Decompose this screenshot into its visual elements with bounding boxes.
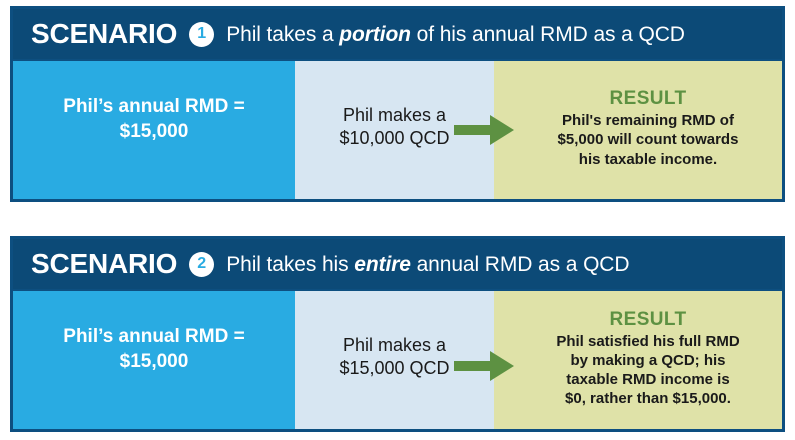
scenario-1-result-panel: RESULT Phil's remaining RMD of $5,000 wi… [494, 61, 782, 199]
scenario-1-description: Phil takes a portion of his annual RMD a… [226, 24, 685, 45]
scenario-2-desc-before: Phil takes his [226, 253, 354, 276]
scenario-2-desc-emphasis: entire [354, 253, 411, 276]
scenario-2-rmd-panel: Phil’s annual RMD = $15,000 [13, 291, 295, 429]
scenario-1-qcd-panel: Phil makes a $10,000 QCD [295, 61, 494, 199]
scenario-card-2: SCENARIO 2 Phil takes his entire annual … [10, 236, 785, 432]
scenario-1-result-text: Phil's remaining RMD of $5,000 will coun… [558, 111, 739, 169]
scenario-2-rmd-line1: Phil’s annual RMD = [63, 324, 244, 349]
scenario-1-desc-before: Phil takes a [226, 23, 339, 46]
scenario-1-label: SCENARIO [31, 20, 177, 48]
scenario-1-body: Phil’s annual RMD = $15,000 Phil makes a… [13, 59, 782, 199]
scenario-1-desc-after: of his annual RMD as a QCD [411, 23, 685, 46]
scenario-2-result-text: Phil satisfied his full RMD by making a … [556, 332, 739, 409]
scenario-1-rmd-panel: Phil’s annual RMD = $15,000 [13, 61, 295, 199]
scenario-2-description: Phil takes his entire annual RMD as a QC… [226, 254, 629, 275]
scenario-1-result-line1: Phil's remaining RMD of [558, 111, 739, 130]
scenario-1-result-title: RESULT [610, 89, 687, 108]
scenario-1-qcd-line2: $10,000 QCD [339, 127, 449, 150]
scenario-2-result-title: RESULT [610, 310, 687, 329]
scenario-1-rmd-text: Phil’s annual RMD = $15,000 [63, 94, 244, 145]
scenario-2-result-line4: $0, rather than $15,000. [556, 389, 739, 408]
scenario-2-qcd-text: Phil makes a $15,000 QCD [339, 334, 449, 380]
scenario-1-rmd-line2: $15,000 [63, 119, 244, 144]
scenario-2-rmd-line2: $15,000 [63, 349, 244, 374]
scenario-1-number-badge: 1 [189, 22, 214, 47]
scenario-2-result-line2: by making a QCD; his [556, 351, 739, 370]
scenario-2-number-badge: 2 [189, 252, 214, 277]
scenario-1-result-line2: $5,000 will count towards [558, 130, 739, 149]
infographic-page: SCENARIO 1 Phil takes a portion of his a… [0, 0, 795, 440]
scenario-2-qcd-line1: Phil makes a [339, 334, 449, 357]
scenario-2-header: SCENARIO 2 Phil takes his entire annual … [13, 239, 782, 289]
scenario-card-1: SCENARIO 1 Phil takes a portion of his a… [10, 6, 785, 202]
scenario-1-header: SCENARIO 1 Phil takes a portion of his a… [13, 9, 782, 59]
scenario-2-qcd-line2: $15,000 QCD [339, 357, 449, 380]
scenario-1-rmd-line1: Phil’s annual RMD = [63, 94, 244, 119]
scenario-2-body: Phil’s annual RMD = $15,000 Phil makes a… [13, 289, 782, 429]
scenario-2-label: SCENARIO [31, 250, 177, 278]
scenario-2-rmd-text: Phil’s annual RMD = $15,000 [63, 324, 244, 375]
scenario-1-result-line3: his taxable income. [558, 150, 739, 169]
scenario-1-qcd-text: Phil makes a $10,000 QCD [339, 104, 449, 150]
scenario-2-result-panel: RESULT Phil satisfied his full RMD by ma… [494, 291, 782, 429]
scenario-2-result-line3: taxable RMD income is [556, 370, 739, 389]
scenario-2-desc-after: annual RMD as a QCD [411, 253, 630, 276]
scenario-2-qcd-panel: Phil makes a $15,000 QCD [295, 291, 494, 429]
scenario-1-qcd-line1: Phil makes a [339, 104, 449, 127]
scenario-2-result-line1: Phil satisfied his full RMD [556, 332, 739, 351]
scenario-1-desc-emphasis: portion [339, 23, 411, 46]
